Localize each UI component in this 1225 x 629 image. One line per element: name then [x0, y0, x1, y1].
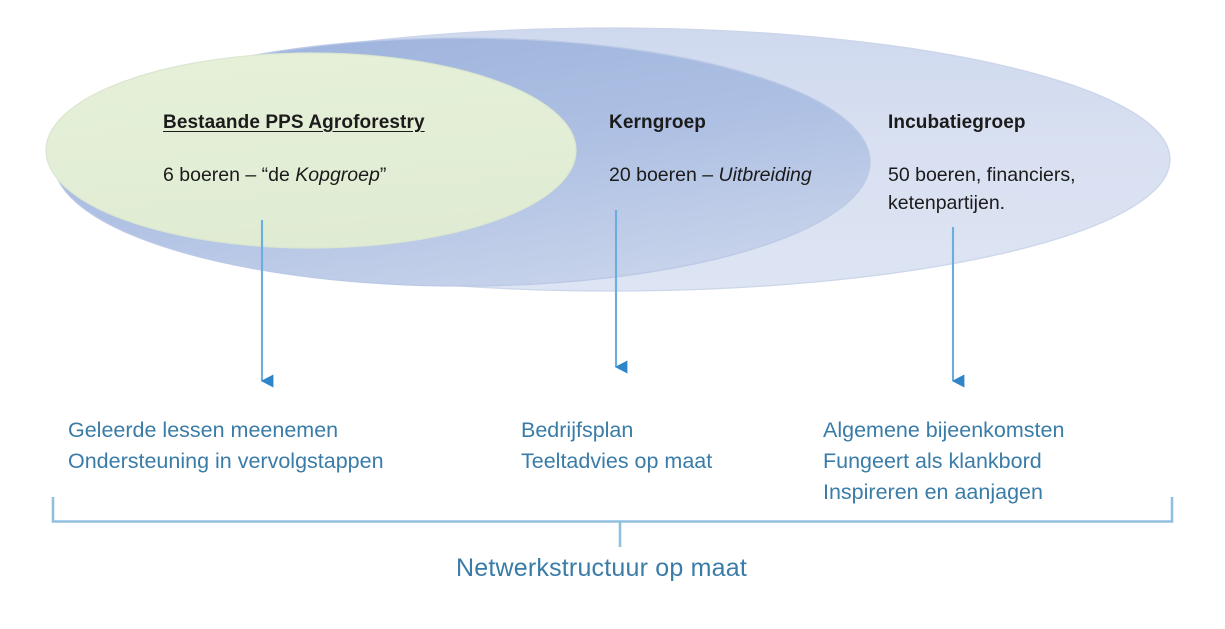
group-title-bestaande-pps: Bestaande PPS Agroforestry	[163, 113, 425, 132]
group-desc-emphasis-bestaande-pps: Kopgroep	[295, 164, 380, 186]
outcome-column-kerngroep: Bedrijfsplan Teeltadvies op maat	[521, 415, 712, 477]
group-block-kerngroep: Kerngroep 20 boeren – Uitbreiding	[609, 113, 812, 190]
diagram-caption: Netwerkstructuur op maat	[0, 554, 1225, 583]
diagram-canvas: Bestaande PPS Agroforestry 6 boeren – “d…	[0, 0, 1225, 629]
group-desc-incubatiegroep: 50 boeren, financiers, ketenpartijen.	[888, 162, 1076, 217]
outcome-line: Bedrijfsplan	[521, 415, 712, 446]
group-title-kerngroep: Kerngroep	[609, 113, 812, 132]
diagram-caption-label: Netwerkstructuur op maat	[456, 554, 747, 583]
group-title-incubatiegroep: Incubatiegroep	[888, 113, 1076, 132]
group-block-bestaande-pps: Bestaande PPS Agroforestry 6 boeren – “d…	[163, 113, 425, 190]
group-desc-line-2-incubatiegroep: ketenpartijen.	[888, 190, 1076, 218]
group-desc-kerngroep: 20 boeren – Uitbreiding	[609, 162, 812, 190]
outcome-column-kopgroep: Geleerde lessen meenemen Ondersteuning i…	[68, 415, 384, 477]
outcome-column-incubatiegroep: Algemene bijeenkomsten Fungeert als klan…	[823, 415, 1064, 508]
outcome-line: Teeltadvies op maat	[521, 446, 712, 477]
group-desc-line-1-incubatiegroep: 50 boeren, financiers,	[888, 162, 1076, 190]
diagram-vector-layer	[0, 0, 1225, 629]
group-desc-bestaande-pps: 6 boeren – “de Kopgroep”	[163, 162, 425, 190]
group-desc-emphasis-kerngroep: Uitbreiding	[719, 164, 812, 186]
outcome-line: Inspireren en aanjagen	[823, 477, 1064, 508]
outcome-line: Geleerde lessen meenemen	[68, 415, 384, 446]
outcome-line: Fungeert als klankbord	[823, 446, 1064, 477]
group-desc-prefix-kerngroep: 20 boeren –	[609, 164, 719, 186]
outcome-line: Algemene bijeenkomsten	[823, 415, 1064, 446]
group-block-incubatiegroep: Incubatiegroep 50 boeren, financiers, ke…	[888, 113, 1076, 217]
group-desc-prefix-bestaande-pps: 6 boeren – “de	[163, 164, 295, 186]
group-desc-suffix-bestaande-pps: ”	[380, 164, 387, 186]
outcome-line: Ondersteuning in vervolgstappen	[68, 446, 384, 477]
